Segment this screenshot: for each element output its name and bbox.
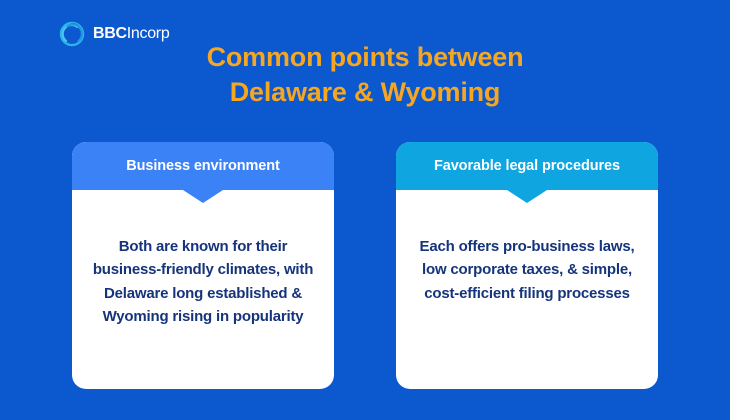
card-header-business-environment: Business environment	[72, 142, 334, 190]
card-favorable-legal-procedures: Favorable legal procedures Each offers p…	[396, 142, 658, 389]
card-header-label: Business environment	[116, 158, 290, 174]
card-business-environment: Business environment Both are known for …	[72, 142, 334, 389]
header-notch-triangle-icon	[183, 190, 223, 203]
card-header-favorable-legal-procedures: Favorable legal procedures	[396, 142, 658, 190]
card-body-favorable-legal-procedures: Each offers pro-business laws, low corpo…	[396, 190, 658, 389]
page-title-line-2: Delaware & Wyoming	[0, 75, 730, 110]
card-body-text: Both are known for their business-friend…	[84, 235, 322, 328]
page-title-line-1: Common points between	[0, 40, 730, 75]
card-body-business-environment: Both are known for their business-friend…	[72, 190, 334, 389]
card-header-label: Favorable legal procedures	[424, 158, 630, 174]
page-title: Common points between Delaware & Wyoming	[0, 40, 730, 110]
header-notch-triangle-icon	[507, 190, 547, 203]
card-body-text: Each offers pro-business laws, low corpo…	[408, 235, 646, 305]
comparison-cards: Business environment Both are known for …	[0, 142, 730, 389]
